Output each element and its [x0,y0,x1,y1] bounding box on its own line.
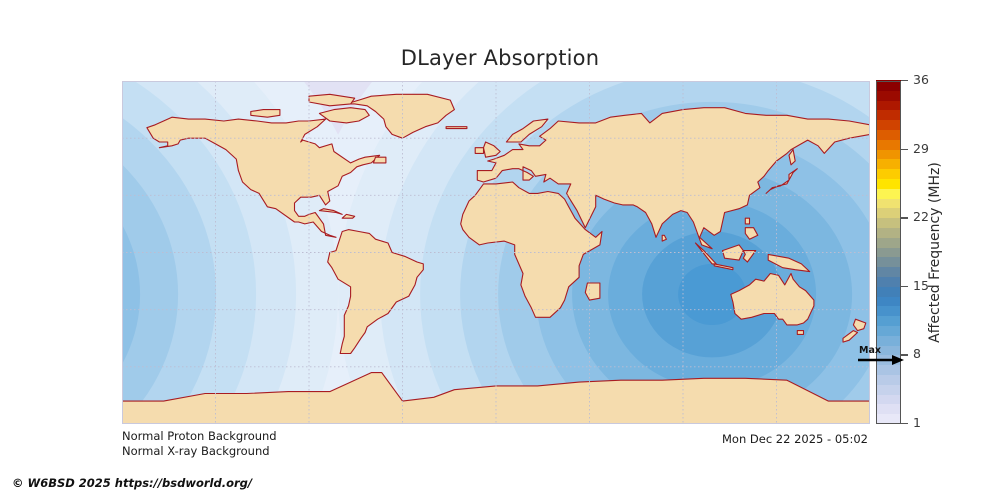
landmass-ireland [475,148,483,154]
colorbar-max-marker: Max [858,346,904,366]
credit-line: © W6BSD 2025 https://bsdworld.org/ [12,476,252,490]
landmass-tasmania [797,331,803,335]
tick-mark [901,80,908,81]
landmass-luzon [745,218,749,224]
plot-root: DLayer Absorption 1815222936 Affected Fr… [0,0,1000,500]
tick-label: 1 [913,415,921,430]
landmass-victoria [251,110,280,118]
status-messages: Normal Proton Background Normal X-ray Ba… [122,429,277,459]
page-title: DLayer Absorption [0,46,1000,70]
tick-mark [901,149,908,150]
tick-label: 8 [913,346,921,361]
colorbar-axis-label: Affected Frequency (MHz) [923,81,948,424]
proton-status: Normal Proton Background [122,429,277,444]
colorbar-outline [876,81,901,424]
arrow-right-icon [858,354,904,366]
xray-status: Normal X-ray Background [122,444,277,459]
timestamp: Mon Dec 22 2025 - 05:02 [722,432,868,446]
map-canvas [122,81,870,424]
landmass-newfoundland [373,157,386,163]
landmass-madagascar [585,283,600,300]
world-map [122,81,870,424]
landmass-iceland [446,127,467,129]
colorbar-tick: 1 [877,424,937,425]
tick-mark [901,217,908,218]
tick-mark [901,423,908,424]
colorbar[interactable] [876,81,901,424]
tick-mark [901,286,908,287]
